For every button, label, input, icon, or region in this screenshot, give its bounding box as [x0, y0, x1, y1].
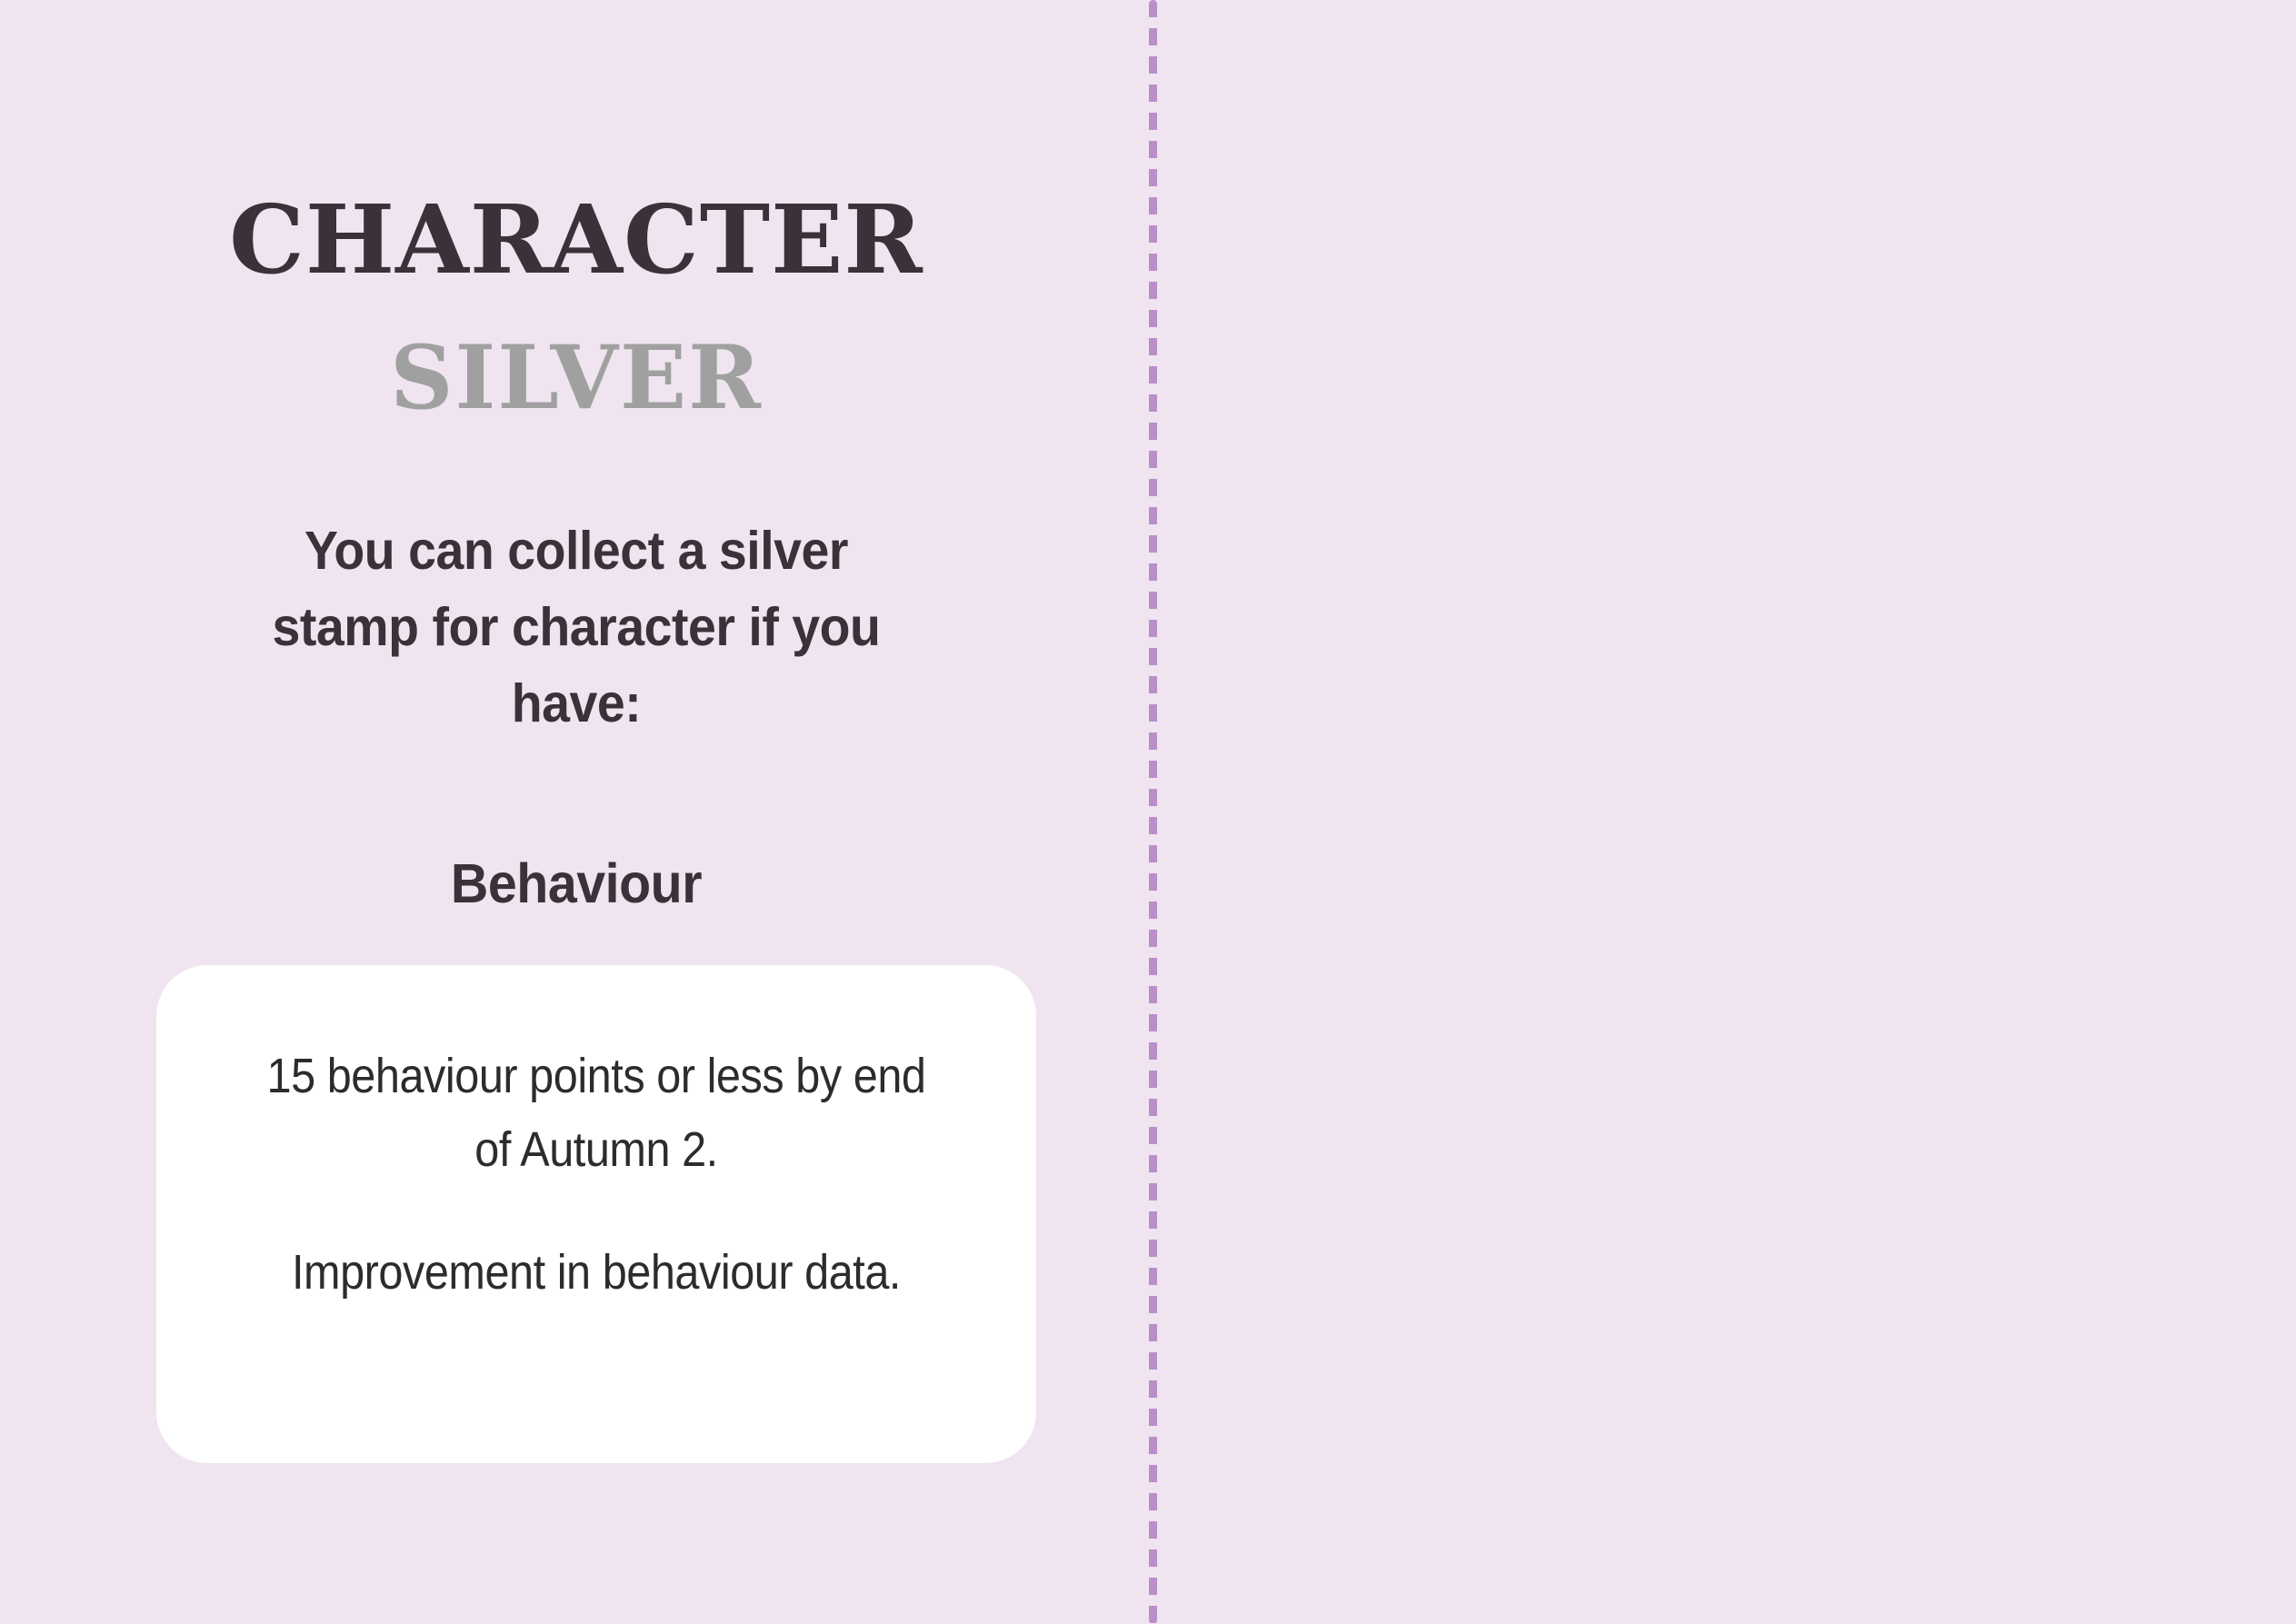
- left-panel: CHARACTER SILVER You can collect a silve…: [0, 0, 1153, 1624]
- award-level-title: SILVER: [0, 334, 1153, 422]
- behaviour-card: 15 behaviour points or less by end of Au…: [156, 965, 1036, 1463]
- paragraph-spacer: [243, 1187, 950, 1236]
- vertical-dashed-divider: [1149, 0, 1157, 1624]
- behaviour-card-text: 15 behaviour points or less by end of Au…: [243, 1040, 950, 1310]
- behaviour-paragraph-2: Improvement in behaviour data.: [292, 1245, 901, 1300]
- section-heading-behaviour: Behaviour: [235, 852, 918, 915]
- behaviour-paragraph-1: 15 behaviour points or less by end of Au…: [267, 1049, 926, 1177]
- brochure-page: CHARACTER SILVER You can collect a silve…: [0, 0, 2296, 1624]
- intro-paragraph: You can collect a silver stamp for chara…: [235, 513, 918, 742]
- right-panel: Community Action, Participation and Rais…: [1153, 0, 2296, 1624]
- page-title: CHARACTER: [0, 193, 1153, 287]
